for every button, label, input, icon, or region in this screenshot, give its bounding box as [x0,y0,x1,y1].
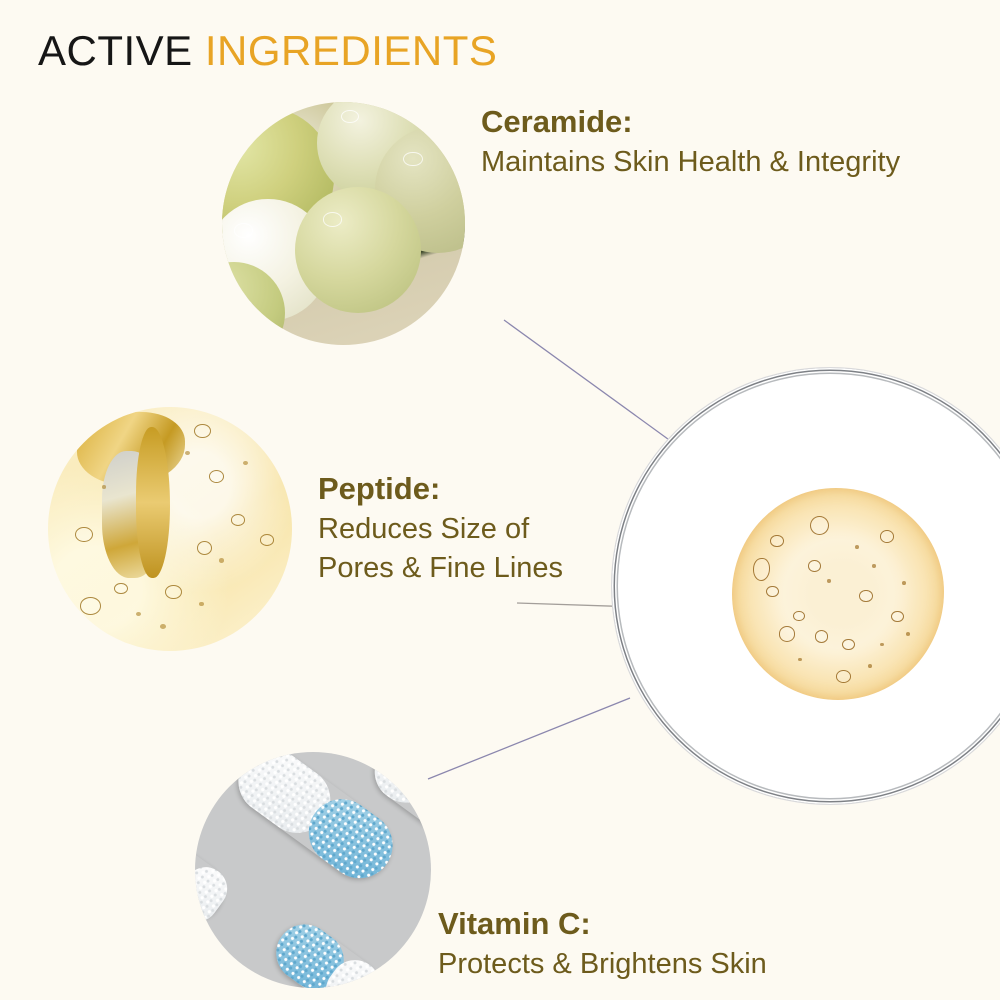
page-title: ACTIVE INGREDIENTS [38,30,497,72]
petri-dish-interior [620,376,1000,796]
connector-line-vitaminc [428,698,630,779]
vitamin-c-label: Vitamin C: [438,905,767,943]
peptide-swatch [48,407,292,651]
vitamin-c-description-line-1: Protects & Brightens Skin [438,947,767,982]
callout-ceramide: Ceramide: Maintains Skin Health & Integr… [481,103,900,180]
active-ingredients-infographic: ACTIVE INGREDIENTS [0,0,1000,1000]
connector-line-ceramide [504,320,672,442]
ceramide-swatch [222,102,465,345]
callout-peptide: Peptide: Reduces Size of Pores & Fine Li… [318,470,563,587]
vitamin-c-swatch [195,752,431,988]
peptide-label: Peptide: [318,470,563,508]
serum-droplet [732,488,944,700]
peptide-description-line-2: Pores & Fine Lines [318,551,563,586]
ceramide-description-line-1: Maintains Skin Health & Integrity [481,145,900,180]
ceramide-label: Ceramide: [481,103,900,141]
peptide-description-line-1: Reduces Size of [318,512,563,547]
page-title-primary: ACTIVE [38,27,193,74]
callout-vitamin-c: Vitamin C: Protects & Brightens Skin [438,905,767,982]
serum-petri-dish [612,368,1000,804]
page-title-accent: INGREDIENTS [205,27,498,74]
